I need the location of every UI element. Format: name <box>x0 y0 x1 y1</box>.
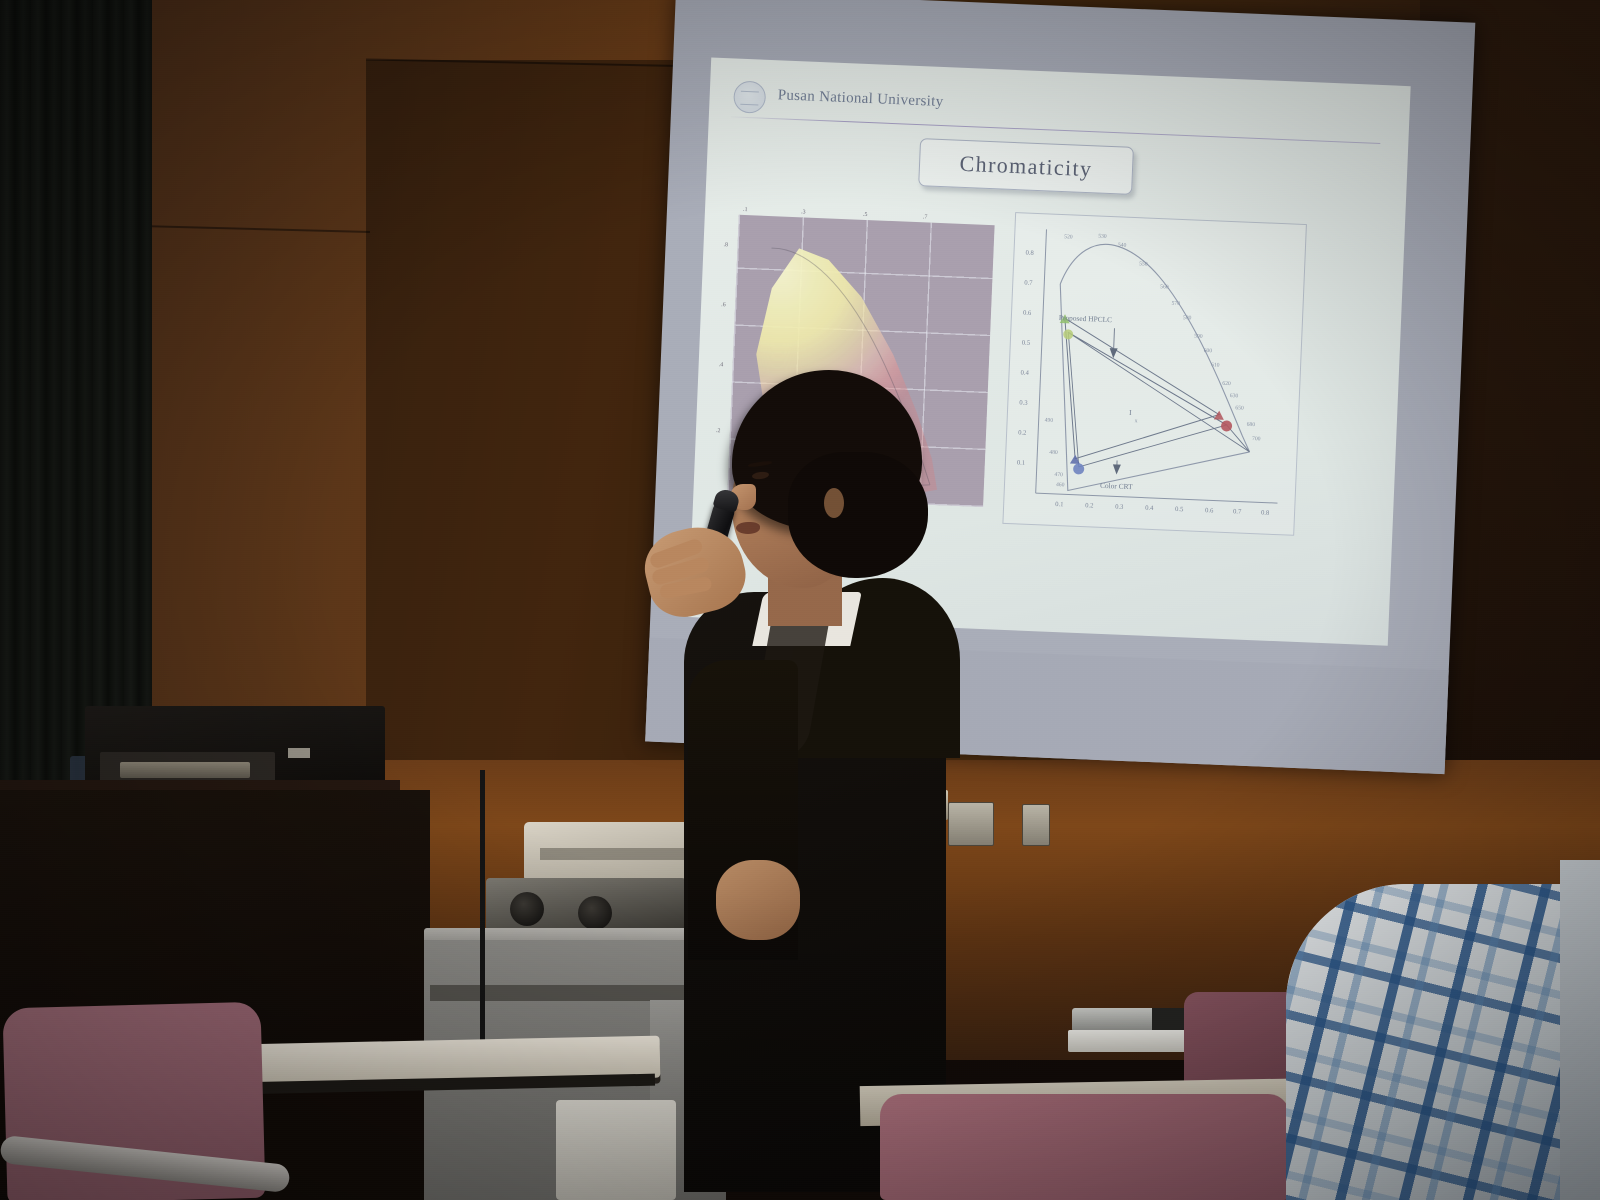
svg-text:560: 560 <box>1160 284 1169 290</box>
svg-text:0.8: 0.8 <box>1261 509 1270 516</box>
svg-text:550: 550 <box>1139 261 1148 267</box>
svg-text:0.7: 0.7 <box>1024 280 1033 287</box>
university-name: Pusan National University <box>777 87 943 111</box>
svg-text:590: 590 <box>1194 334 1203 340</box>
svg-text:0.2: 0.2 <box>1018 429 1027 436</box>
svg-text:620: 620 <box>1222 381 1231 387</box>
presenter <box>640 360 970 1200</box>
svg-text:0.8: 0.8 <box>1025 250 1034 257</box>
presenter-hair-back <box>788 452 928 578</box>
svg-text:580: 580 <box>1183 315 1192 321</box>
svg-text:0.3: 0.3 <box>1115 503 1124 510</box>
svg-text:540: 540 <box>1118 242 1127 248</box>
av-deck-sticker <box>288 748 310 758</box>
svg-text:0.4: 0.4 <box>1020 369 1029 376</box>
slide-header: Pusan National University <box>733 80 1374 140</box>
svg-text:0.1: 0.1 <box>1017 459 1026 466</box>
svg-text:700: 700 <box>1252 436 1261 442</box>
svg-text:0.4: 0.4 <box>1145 505 1154 512</box>
power-cable <box>480 770 485 1060</box>
svg-text:0.5: 0.5 <box>1175 506 1184 513</box>
projector-lens-icon <box>510 892 544 926</box>
svg-text:0.1: 0.1 <box>1055 501 1064 508</box>
cie-outline-chart: 0.10.2 0.30.4 0.50.6 0.70.8 0.10.2 0.30.… <box>1011 220 1297 527</box>
attendee-plaid-shirt <box>1286 884 1600 1200</box>
annotation-color-crt: Color CRT <box>1100 481 1133 491</box>
svg-text:520: 520 <box>1064 234 1073 240</box>
svg-text:470: 470 <box>1054 472 1063 478</box>
svg-text:0.2: 0.2 <box>1085 502 1094 509</box>
svg-text:x: x <box>1135 418 1138 424</box>
svg-text:570: 570 <box>1171 301 1180 307</box>
svg-text:I: I <box>1129 408 1132 417</box>
svg-text:0.6: 0.6 <box>1023 310 1032 317</box>
presenter-mouth <box>736 522 760 534</box>
presenter-ear <box>824 488 844 518</box>
svg-text:650: 650 <box>1235 405 1244 411</box>
photo-scene: Pusan National University Chromaticity <box>0 0 1600 1200</box>
slide-title-box: Chromaticity <box>918 138 1134 195</box>
projector-lens-icon <box>578 896 612 930</box>
svg-text:600: 600 <box>1204 348 1213 354</box>
wall-plate[interactable] <box>1022 804 1050 846</box>
svg-text:490: 490 <box>1045 417 1054 423</box>
laptop-base[interactable] <box>1068 1030 1194 1052</box>
svg-text:0.7: 0.7 <box>1233 508 1242 515</box>
plaid-pattern <box>1286 884 1600 1200</box>
presenter-hand-lower <box>716 860 800 940</box>
svg-text:0.5: 0.5 <box>1022 339 1031 346</box>
svg-text:530: 530 <box>1098 234 1107 240</box>
svg-text:0.6: 0.6 <box>1205 507 1214 514</box>
svg-text:460: 460 <box>1056 482 1065 488</box>
attendee-edge <box>1560 860 1600 1200</box>
svg-text:480: 480 <box>1049 450 1058 456</box>
av-deck-tray <box>120 762 250 778</box>
svg-text:0.3: 0.3 <box>1019 399 1028 406</box>
svg-text:630: 630 <box>1230 393 1239 399</box>
university-crest-icon <box>733 80 766 113</box>
svg-text:680: 680 <box>1247 422 1256 428</box>
slide-title: Chromaticity <box>920 149 1133 184</box>
chair-front-right[interactable] <box>880 1094 1290 1200</box>
svg-text:610: 610 <box>1211 362 1220 368</box>
